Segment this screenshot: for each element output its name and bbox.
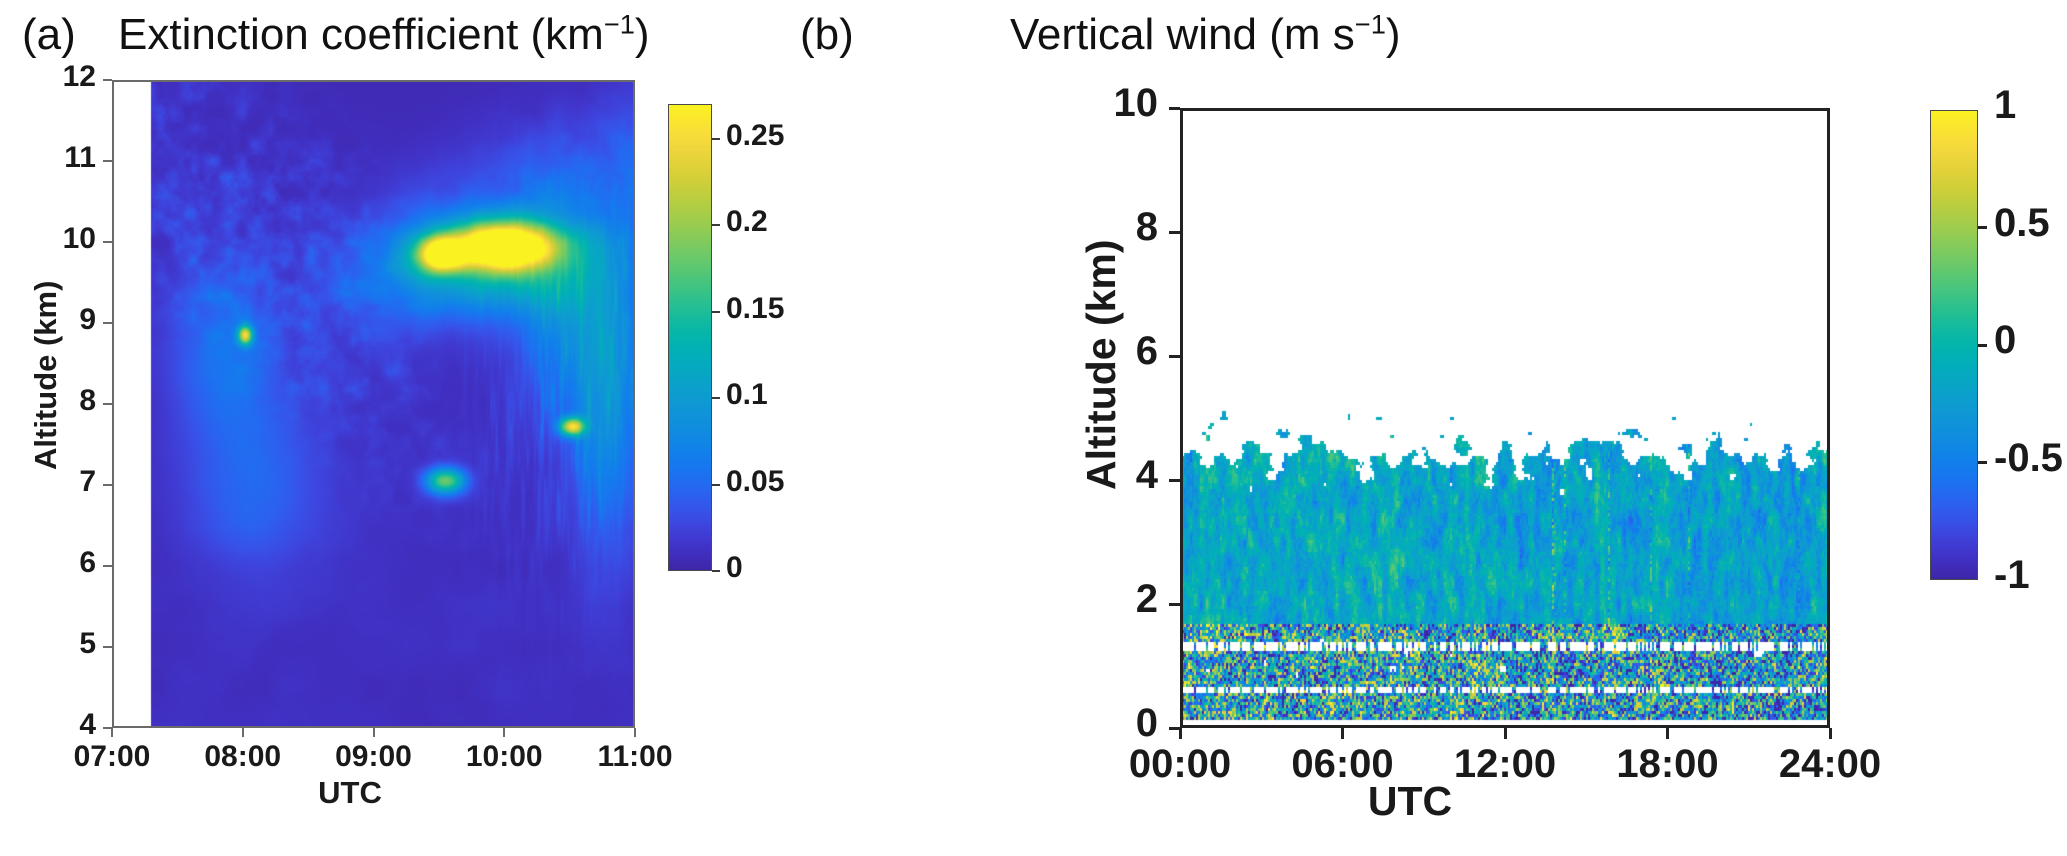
panel-a-xtick bbox=[373, 728, 375, 737]
panel-a-colorbar-tick bbox=[712, 484, 720, 486]
title-text: Vertical wind (m s bbox=[1010, 10, 1355, 59]
panel-a-colorbar-tick-label: 0.2 bbox=[726, 205, 768, 239]
panel-a-ytick bbox=[103, 646, 112, 648]
panel-a-colorbar-tick-label: 0.05 bbox=[726, 465, 784, 499]
panel-a-ytick-label: 12 bbox=[0, 60, 96, 94]
panel-a-ytick bbox=[103, 484, 112, 486]
panel-a-ytick bbox=[103, 403, 112, 405]
title-tail: ) bbox=[635, 10, 650, 59]
panel-b-xtick-label: 12:00 bbox=[1420, 742, 1590, 787]
figure-root: (a) Extinction coefficient (km−1) Altitu… bbox=[0, 0, 2067, 856]
panel-b-xtick-label: 00:00 bbox=[1095, 742, 1265, 787]
panel-b-xtick bbox=[1341, 728, 1344, 739]
panel-a-colorbar-tick bbox=[712, 570, 720, 572]
panel-b-ytick-label: 10 bbox=[1040, 81, 1158, 126]
panel-b-tag: (b) bbox=[800, 10, 854, 60]
panel-b-colorbar-tick-label: -0.5 bbox=[1994, 436, 2063, 481]
panel-a-colorbar-tick bbox=[712, 397, 720, 399]
panel-a-ytick-label: 9 bbox=[0, 303, 96, 337]
panel-b-colorbar-tick bbox=[1978, 461, 1987, 464]
panel-b-colorbar-tick-label: 0.5 bbox=[1994, 201, 2050, 246]
panel-a-colorbar-tick-label: 0.1 bbox=[726, 378, 768, 412]
panel-a-colorbar-tick bbox=[712, 311, 720, 313]
panel-b-ytick-label: 8 bbox=[1040, 205, 1158, 250]
panel-a-ytick-label: 8 bbox=[0, 384, 96, 418]
panel-b-ytick bbox=[1169, 355, 1180, 358]
panel-b-ytick-label: 0 bbox=[1040, 701, 1158, 746]
panel-a-plot-area bbox=[112, 80, 635, 728]
panel-a-xtick bbox=[634, 728, 636, 737]
panel-a-ytick bbox=[103, 565, 112, 567]
panel-b-ytick bbox=[1169, 479, 1180, 482]
panel-a-xtick bbox=[111, 728, 113, 737]
title-superscript: −1 bbox=[604, 8, 635, 39]
panel-b-xtick bbox=[1829, 728, 1832, 739]
panel-a-colorbar bbox=[668, 104, 712, 571]
panel-b-xtick bbox=[1666, 728, 1669, 739]
panel-b-ytick-label: 4 bbox=[1040, 453, 1158, 498]
panel-a-colorbar-tick-label: 0.25 bbox=[726, 119, 784, 153]
panel-a-xtick-label: 11:00 bbox=[570, 740, 700, 774]
panel-a-ytick-label: 11 bbox=[0, 141, 96, 175]
panel-a-colorbar-tick bbox=[712, 224, 720, 226]
title-superscript: −1 bbox=[1355, 8, 1386, 39]
panel-b-colorbar-tick-label: -1 bbox=[1994, 553, 2030, 598]
panel-a-title: Extinction coefficient (km−1) bbox=[118, 10, 650, 60]
panel-b-xtick-label: 24:00 bbox=[1745, 742, 1915, 787]
panel-a-xtick-label: 08:00 bbox=[178, 740, 308, 774]
panel-a-colorbar-tick-label: 0 bbox=[726, 551, 743, 585]
panel-a-xtick-label: 07:00 bbox=[47, 740, 177, 774]
panel-b-ytick bbox=[1169, 231, 1180, 234]
panel-a-ytick-label: 10 bbox=[0, 222, 96, 256]
panel-a-ytick-label: 4 bbox=[0, 708, 96, 742]
panel-b-xtick bbox=[1504, 728, 1507, 739]
panel-b-colorbar bbox=[1930, 110, 1978, 580]
panel-b-title: Vertical wind (m s−1) bbox=[1010, 10, 1401, 60]
panel-b-ytick-label: 2 bbox=[1040, 577, 1158, 622]
panel-b-colorbar-tick-label: 1 bbox=[1994, 83, 2016, 128]
panel-b-xtick bbox=[1179, 728, 1182, 739]
panel-a-xtick-label: 09:00 bbox=[309, 740, 439, 774]
panel-a-ytick bbox=[103, 79, 112, 81]
panel-a-tag: (a) bbox=[22, 10, 76, 60]
panel-a-ytick bbox=[103, 241, 112, 243]
panel-a-ytick-label: 6 bbox=[0, 546, 96, 580]
panel-a-xlabel: UTC bbox=[0, 775, 700, 811]
panel-b-plot-area bbox=[1180, 108, 1830, 728]
panel-b-ytick-label: 6 bbox=[1040, 329, 1158, 374]
panel-b-xtick-label: 18:00 bbox=[1583, 742, 1753, 787]
panel-a-ytick-label: 7 bbox=[0, 465, 96, 499]
panel-b-ytick bbox=[1169, 107, 1180, 110]
panel-b-colorbar-tick-label: 0 bbox=[1994, 318, 2016, 363]
panel-a-ytick-label: 5 bbox=[0, 627, 96, 661]
panel-b-xtick-label: 06:00 bbox=[1258, 742, 1428, 787]
panel-b-colorbar-tick bbox=[1978, 226, 1987, 229]
panel-a-xtick bbox=[503, 728, 505, 737]
panel-b-ytick bbox=[1169, 603, 1180, 606]
panel-a-xtick-label: 10:00 bbox=[439, 740, 569, 774]
panel-a-ytick bbox=[103, 322, 112, 324]
panel-a-colorbar-tick bbox=[712, 138, 720, 140]
panel-a-colorbar-tick-label: 0.15 bbox=[726, 292, 784, 326]
title-tail: ) bbox=[1386, 10, 1401, 59]
panel-a-xtick bbox=[242, 728, 244, 737]
panel-b-colorbar-tick bbox=[1978, 344, 1987, 347]
title-text: Extinction coefficient (km bbox=[118, 10, 604, 59]
panel-a-ytick bbox=[103, 160, 112, 162]
